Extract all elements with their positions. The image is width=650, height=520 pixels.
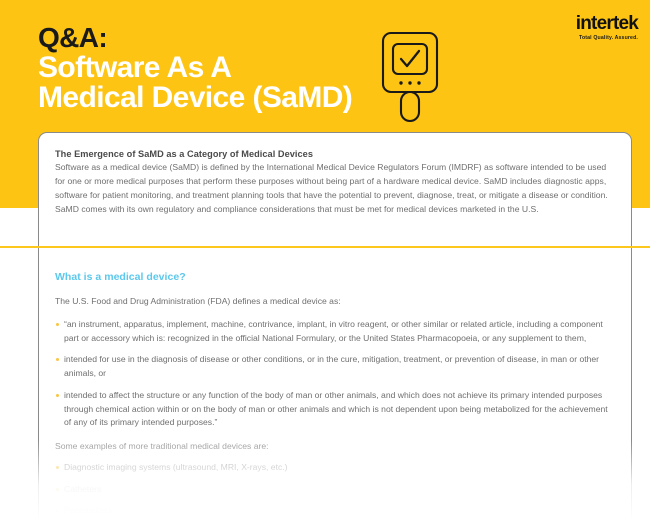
page-title-line-2: Software As A <box>38 53 352 84</box>
list-item: intended for use in the diagnosis of dis… <box>55 353 617 381</box>
examples-list: Diagnostic imaging systems (ultrasound, … <box>55 461 617 520</box>
section-heading: What is a medical device? <box>55 271 617 283</box>
content-card: The Emergence of SaMD as a Category of M… <box>38 132 632 520</box>
content-card-inner: The Emergence of SaMD as a Category of M… <box>39 133 631 520</box>
page-title-line-3: Medical Device (SaMD) <box>38 83 352 114</box>
logo-tagline: Total Quality. Assured. <box>576 36 638 41</box>
intro-section: The Emergence of SaMD as a Category of M… <box>55 149 615 217</box>
examples-lead: Some examples of more traditional medica… <box>55 440 617 454</box>
page-title: Q&A: Software As A Medical Device (SaMD) <box>38 24 352 114</box>
gold-divider <box>0 246 650 248</box>
medical-device-section: What is a medical device? The U.S. Food … <box>55 271 617 520</box>
page-title-line-1: Q&A: <box>38 24 352 53</box>
list-item: “an instrument, apparatus, implement, ma… <box>55 318 617 346</box>
section-lead: The U.S. Food and Drug Administration (F… <box>55 295 617 309</box>
list-item: Catheters <box>55 483 617 497</box>
intro-heading: The Emergence of SaMD as a Category of M… <box>55 149 615 159</box>
intro-body: Software as a medical device (SaMD) is d… <box>55 161 611 217</box>
glucose-meter-check-icon <box>378 28 442 126</box>
intertek-logo: intertek Total Quality. Assured. <box>576 14 638 41</box>
definition-bullet-list: “an instrument, apparatus, implement, ma… <box>55 318 617 430</box>
logo-wordmark: intertek <box>576 14 638 33</box>
list-item: Diagnostic imaging systems (ultrasound, … <box>55 461 617 475</box>
list-item: Pacemakers <box>55 504 617 518</box>
list-item: intended to affect the structure or any … <box>55 389 617 430</box>
samd-qa-page: Q&A: Software As A Medical Device (SaMD)… <box>0 0 650 520</box>
